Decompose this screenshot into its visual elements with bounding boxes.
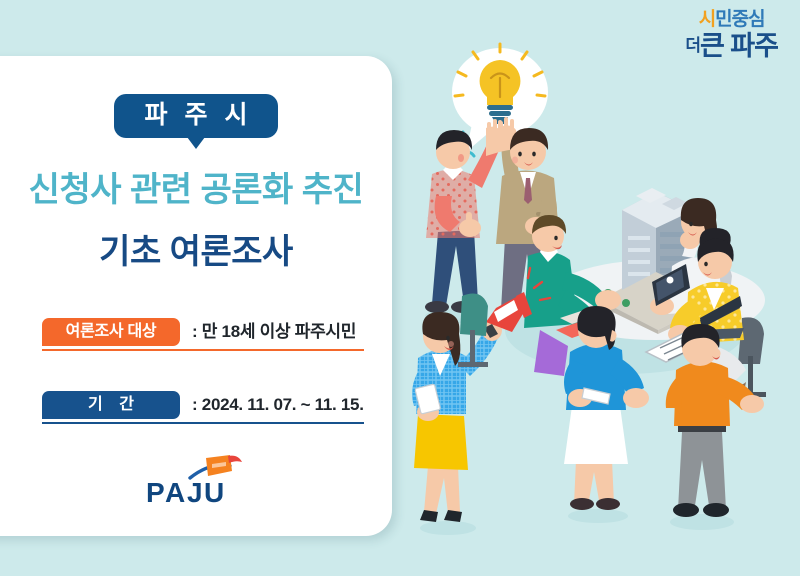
city-brand-slogan: 시민중심 더큰 파주 — [685, 10, 778, 60]
city-badge-wrap: 파 주 시 — [0, 94, 392, 138]
page-title-line-1: 신청사 관련 공론화 추진 — [0, 162, 392, 211]
city-badge-label: 파 주 시 — [145, 101, 253, 129]
brand-line-1: 시민중심 — [685, 10, 778, 29]
info-value-target: : 만 18세 이상 파주시민 — [192, 318, 356, 346]
badge-tail-icon — [187, 137, 205, 149]
svg-text:P: P — [146, 477, 164, 508]
paju-logo: P A J U — [0, 452, 392, 513]
info-row-period: 기 간 : 2024. 11. 07. ~ 11. 15. — [42, 391, 364, 429]
info-value-period: : 2024. 11. 07. ~ 11. 15. — [192, 391, 364, 419]
info-card-content: 파 주 시 신청사 관련 공론화 추진 기초 여론조사 여론조사 대상 : 만 … — [0, 56, 392, 536]
brand-line-1-rest: 민중심 — [715, 9, 764, 30]
brand-line-2-main: 큰 파주 — [700, 31, 778, 61]
svg-text:A: A — [165, 477, 185, 508]
info-rule-target — [42, 349, 364, 351]
info-tag-period: 기 간 — [42, 391, 180, 419]
page-title-line-2: 기초 여론조사 — [0, 224, 392, 273]
info-card: 파 주 시 신청사 관련 공론화 추진 기초 여론조사 여론조사 대상 : 만 … — [0, 56, 392, 536]
city-badge: 파 주 시 — [114, 94, 279, 138]
brand-line-2-small: 더 — [685, 36, 700, 55]
poster-root: 시민중심 더큰 파주 파 주 시 신청사 관련 공론화 추진 기초 여론조사 여… — [0, 0, 800, 576]
info-tag-target: 여론조사 대상 — [42, 318, 180, 346]
info-row-target: 여론조사 대상 : 만 18세 이상 파주시민 — [42, 318, 364, 356]
svg-text:U: U — [204, 477, 224, 508]
brand-accent-char: 시 — [699, 9, 715, 30]
svg-text:J: J — [187, 477, 202, 508]
brand-line-2: 더큰 파주 — [685, 33, 778, 60]
info-rule-period — [42, 422, 364, 424]
